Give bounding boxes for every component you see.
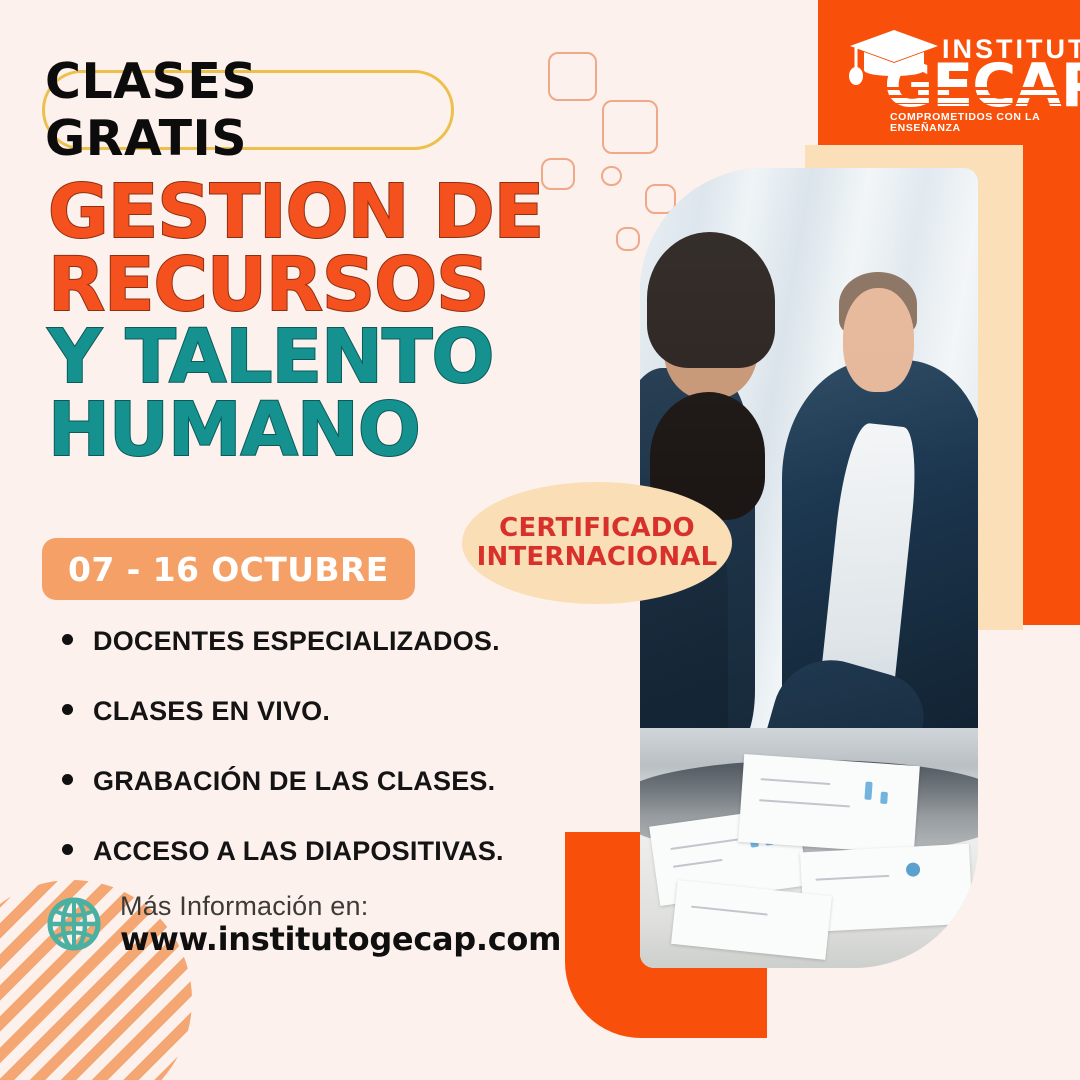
free-classes-badge: CLASES GRATIS	[42, 70, 454, 150]
logo-gecap-text: GECAP	[884, 56, 1080, 116]
page-title: GESTION DE RECURSOS Y TALENTO HUMANO	[48, 178, 608, 468]
decorative-square-2	[602, 100, 658, 154]
feature-label: CLASES EN VIVO.	[93, 696, 330, 727]
decorative-square-6	[616, 227, 640, 251]
bullet-icon	[62, 704, 73, 715]
footer-text-group: Más Información en: www.institutogecap.c…	[120, 892, 561, 957]
free-classes-label: CLASES GRATIS	[45, 53, 451, 167]
globe-icon	[46, 896, 102, 952]
headline-line-4: HUMANO	[48, 396, 608, 466]
certificate-line-1: CERTIFICADO	[499, 514, 695, 543]
headline-line-1: GESTION DE	[48, 178, 608, 248]
course-date-badge: 07 - 16 OCTUBRE	[42, 538, 415, 600]
certificate-badge: CERTIFICADO INTERNACIONAL	[462, 482, 732, 604]
feature-label: DOCENTES ESPECIALIZADOS.	[93, 626, 500, 657]
bullet-icon	[62, 774, 73, 785]
more-info-label: Más Información en:	[120, 892, 561, 920]
feature-list: DOCENTES ESPECIALIZADOS. CLASES EN VIVO.…	[62, 626, 602, 906]
list-item: GRABACIÓN DE LAS CLASES.	[62, 766, 602, 797]
institute-logo: INSTITUTO GECAP COMPROMETIDOS CON LA ENS…	[846, 20, 1062, 124]
logo-tagline: COMPROMETIDOS CON LA ENSEÑANZA	[890, 112, 1062, 133]
list-item: ACCESO A LAS DIAPOSITIVAS.	[62, 836, 602, 867]
feature-label: ACCESO A LAS DIAPOSITIVAS.	[93, 836, 504, 867]
bullet-icon	[62, 634, 73, 645]
bullet-icon	[62, 844, 73, 855]
certificate-line-2: INTERNACIONAL	[477, 543, 718, 572]
footer-contact: Más Información en: www.institutogecap.c…	[46, 892, 561, 957]
list-item: DOCENTES ESPECIALIZADOS.	[62, 626, 602, 657]
course-date-label: 07 - 16 OCTUBRE	[68, 550, 389, 589]
headline-line-2: RECURSOS	[48, 251, 608, 321]
website-url[interactable]: www.institutogecap.com	[120, 923, 561, 957]
feature-label: GRABACIÓN DE LAS CLASES.	[93, 766, 495, 797]
decorative-square-1	[548, 52, 597, 101]
promotional-flyer: INSTITUTO GECAP COMPROMETIDOS CON LA ENS…	[0, 0, 1080, 1080]
list-item: CLASES EN VIVO.	[62, 696, 602, 727]
headline-line-3: Y TALENTO	[48, 323, 608, 393]
